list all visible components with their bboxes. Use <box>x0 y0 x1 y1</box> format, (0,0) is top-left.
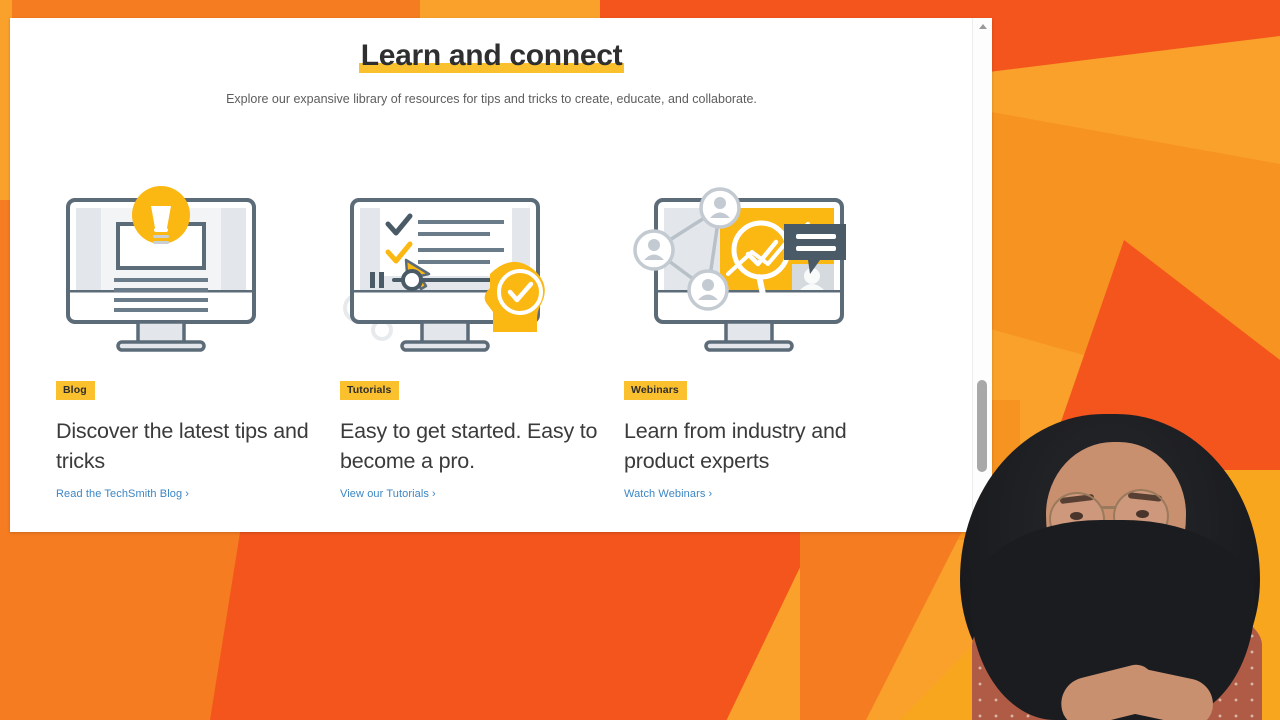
card-badge-blog: Blog <box>56 381 95 400</box>
card-link-webinars-label: Watch Webinars <box>624 488 705 500</box>
page-title-wrap: Learn and connect <box>361 36 623 76</box>
card-badge-tutorials: Tutorials <box>340 381 399 400</box>
panel-scroll-content: Learn and connect Explore our expansive … <box>10 18 973 532</box>
monitor-checklist-player-icon <box>340 178 570 368</box>
card-title-tutorials: Easy to get started. Easy to become a pr… <box>340 416 620 476</box>
content-panel: Learn and connect Explore our expansive … <box>10 18 992 532</box>
presenter-glasses-bridge <box>1101 506 1115 509</box>
card-row: Blog Discover the latest tips and tricks… <box>10 178 954 502</box>
card-link-webinars[interactable]: Watch Webinars› <box>624 488 712 500</box>
tutorials-illustration <box>340 178 624 368</box>
monitor-network-chart-icon <box>624 178 864 368</box>
monitor-lightbulb-icon <box>56 178 266 368</box>
card-title-webinars: Learn from industry and product experts <box>624 416 904 476</box>
card-badge-webinars: Webinars <box>624 381 687 400</box>
chevron-right-icon: › <box>185 488 189 500</box>
card-blog[interactable]: Blog Discover the latest tips and tricks… <box>56 178 340 502</box>
card-tutorials[interactable]: Tutorials Easy to get started. Easy to b… <box>340 178 624 502</box>
card-link-tutorials-label: View our Tutorials <box>340 488 429 500</box>
card-title-blog: Discover the latest tips and tricks <box>56 416 336 476</box>
chevron-right-icon: › <box>708 488 712 500</box>
card-link-tutorials[interactable]: View our Tutorials› <box>340 488 436 500</box>
card-webinars[interactable]: Webinars Learn from industry and product… <box>624 178 908 502</box>
scroll-up-arrow-icon[interactable] <box>973 18 992 35</box>
card-link-blog-label: Read the TechSmith Blog <box>56 488 182 500</box>
card-link-blog[interactable]: Read the TechSmith Blog› <box>56 488 189 500</box>
blog-illustration <box>56 178 340 368</box>
chevron-right-icon: › <box>432 488 436 500</box>
page-subtitle: Explore our expansive library of resourc… <box>212 88 772 110</box>
page-title: Learn and connect <box>361 36 623 76</box>
page-header: Learn and connect Explore our expansive … <box>10 18 973 110</box>
webinars-illustration <box>624 178 908 368</box>
webcam-presenter-overlay <box>950 400 1280 720</box>
screen-capture-frame: Learn and connect Explore our expansive … <box>0 0 1280 720</box>
